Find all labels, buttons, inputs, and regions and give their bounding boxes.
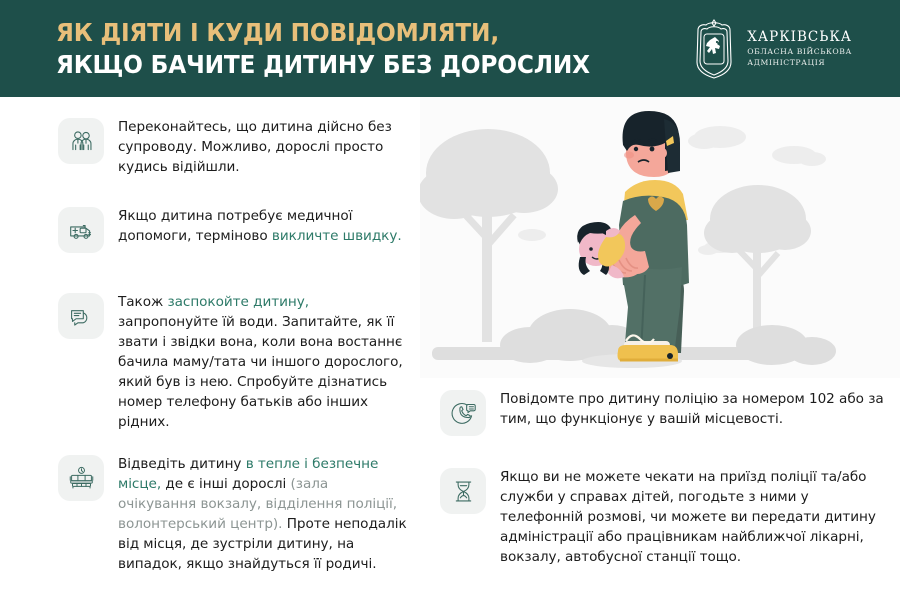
logo-text-group: ХАРКІВСЬКА ОБЛАСНА ВІЙСЬКОВА АДМІНІСТРАЦ…	[747, 29, 852, 68]
infographic-page: ЯК ДІЯТИ І КУДИ ПОВІДОМЛЯТИ, ЯКЩО БАЧИТЕ…	[0, 0, 900, 600]
left-advice-column: Переконайтесь, що дитина дійсно без супр…	[0, 97, 420, 600]
header-title-group: ЯК ДІЯТИ І КУДИ ПОВІДОМЛЯТИ, ЯКЩО БАЧИТЕ…	[0, 17, 630, 81]
advice-text: Повідомте про дитину поліцію за номером …	[500, 390, 890, 430]
phone-message-icon	[440, 390, 486, 436]
logo-org-sub2: АДМІНІСТРАЦІЯ	[747, 57, 852, 68]
advice-segment: де є інші дорослі	[161, 476, 290, 492]
page-title-line1: ЯК ДІЯТИ І КУДИ ПОВІДОМЛЯТИ,	[56, 17, 590, 49]
advice-text: Відведіть дитину в тепле і безпечне місц…	[118, 455, 410, 575]
right-advice-column: Повідомте про дитину поліцію за номером …	[420, 97, 900, 600]
advice-segment: Також	[118, 294, 167, 310]
advice-item-calm-child: Також заспокойте дитину, запропонуйте їй…	[58, 293, 410, 433]
advice-item-report-to-police: Повідомте про дитину поліцію за номером …	[440, 390, 890, 436]
advice-item-safe-place: Відведіть дитину в тепле і безпечне місц…	[58, 455, 410, 575]
advice-segment: Повідомте про дитину поліцію за номером …	[500, 391, 884, 427]
advice-text: Якщо ви не можете чекати на приїзд поліц…	[500, 468, 892, 568]
waiting-bench-clock-icon	[58, 455, 104, 501]
advice-text: Також заспокойте дитину, запропонуйте їй…	[118, 293, 410, 433]
advice-segment: Відведіть дитину	[118, 456, 246, 472]
page-header: ЯК ДІЯТИ І КУДИ ПОВІДОМЛЯТИ, ЯКЩО БАЧИТЕ…	[0, 0, 900, 97]
advice-item-cannot-wait: Якщо ви не можете чекати на приїзд поліц…	[440, 468, 892, 568]
girl-holding-doll-illustration	[420, 97, 900, 378]
advice-item-call-ambulance: Якщо дитина потребує медичної допомоги, …	[58, 207, 408, 253]
logo-org-name: ХАРКІВСЬКА	[747, 29, 852, 46]
advice-item-verify-unaccompanied: Переконайтесь, що дитина дійсно без супр…	[58, 118, 408, 178]
advice-segment: Якщо ви не можете чекати на приїзд поліц…	[500, 469, 876, 565]
advice-text: Переконайтесь, що дитина дійсно без супр…	[118, 118, 408, 178]
chat-bubbles-icon	[58, 293, 104, 339]
organization-logo: ХАРКІВСЬКА ОБЛАСНА ВІЙСЬКОВА АДМІНІСТРАЦ…	[690, 18, 900, 80]
advice-segment: запропонуйте їй води. Запитайте, як її з…	[118, 314, 403, 430]
advice-segment-highlight: викличте швидку.	[272, 228, 402, 244]
ambulance-icon	[58, 207, 104, 253]
two-people-icon	[58, 118, 104, 164]
logo-org-sub1: ОБЛАСНА ВІЙСЬКОВА	[747, 46, 852, 57]
page-title-line2: ЯКЩО БАЧИТЕ ДИТИНУ БЕЗ ДОРОСЛИХ	[56, 49, 590, 81]
advice-text: Якщо дитина потребує медичної допомоги, …	[118, 207, 408, 247]
kharkiv-coat-of-arms-icon	[690, 18, 738, 80]
hourglass-icon	[440, 468, 486, 514]
advice-segment-highlight: заспокойте дитину,	[167, 294, 309, 310]
